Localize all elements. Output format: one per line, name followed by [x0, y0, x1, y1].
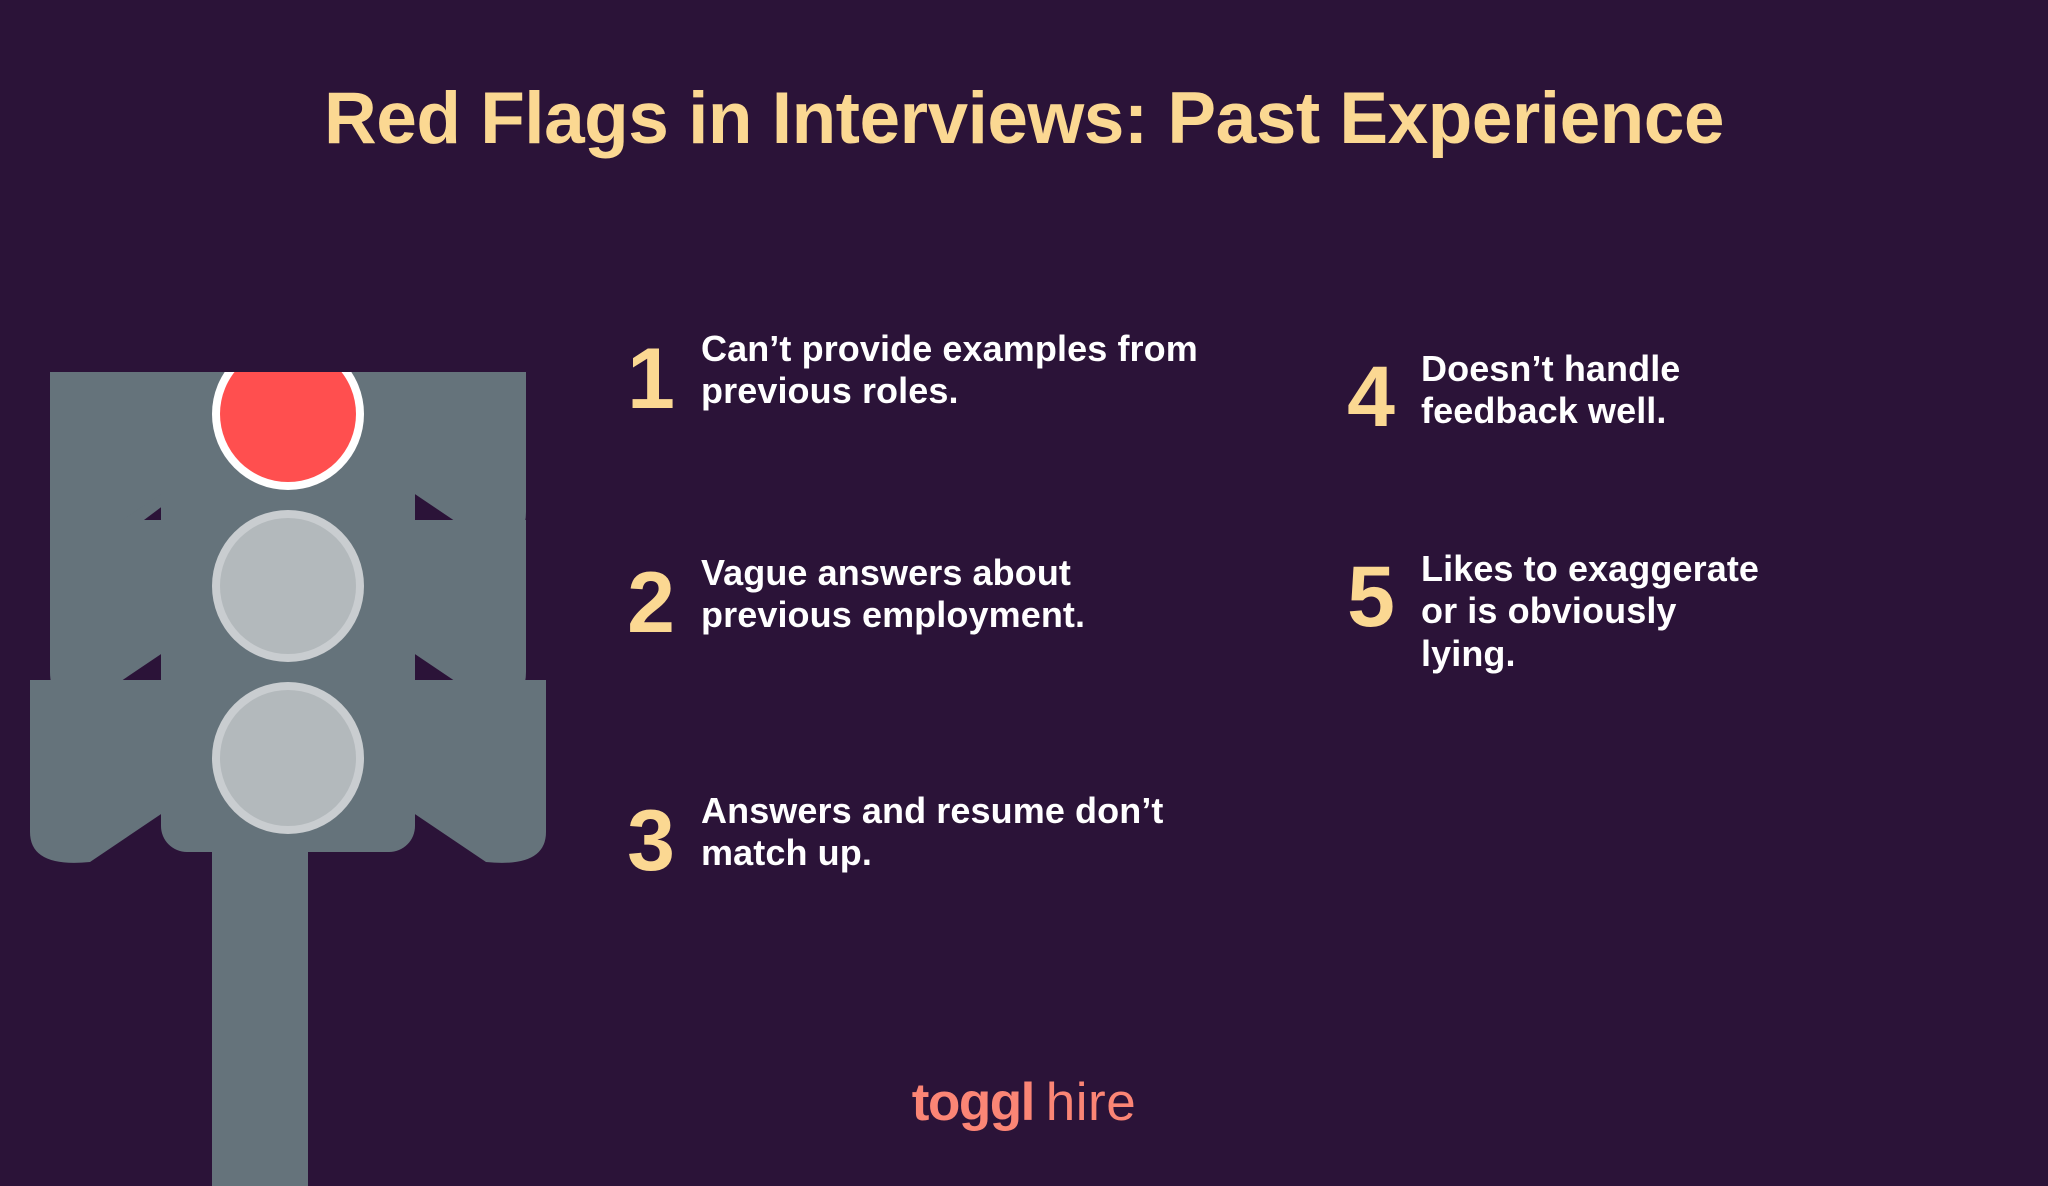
- list-item: 4 Doesn’t handle feedback well.: [1325, 348, 1765, 440]
- infographic-canvas: Red Flags in Interviews: Past Experience: [0, 0, 2048, 1186]
- list-item-text: Answers and resume don’t match up.: [697, 790, 1210, 875]
- list-item-text: Can’t provide examples from previous rol…: [697, 328, 1210, 413]
- logo-wordmark-toggl: toggl: [912, 1073, 1034, 1132]
- list-item: 1 Can’t provide examples from previous r…: [605, 328, 1210, 422]
- hood-tier3-right: [400, 680, 546, 863]
- hood-tier1-right: [400, 372, 526, 543]
- list-item-text: Vague answers about previous employment.: [697, 552, 1210, 637]
- list-item-number: 3: [605, 790, 697, 884]
- list-item: 5 Likes to exaggerate or is obviously ly…: [1325, 548, 1765, 675]
- list-item: 2 Vague answers about previous employmen…: [605, 552, 1210, 646]
- green-light: [220, 690, 356, 826]
- hood-tier3-left: [30, 680, 176, 863]
- list-item-text: Likes to exaggerate or is obviously lyin…: [1417, 548, 1765, 675]
- hood-tier2-right: [400, 520, 526, 703]
- hood-tier1-left: [50, 372, 176, 543]
- toggl-hire-logo: togglhire: [0, 1076, 2048, 1129]
- traffic-light-illustration: [28, 372, 548, 1186]
- list-item-number: 2: [605, 552, 697, 646]
- hood-tier2-left: [50, 520, 176, 703]
- logo-wordmark-hire: hire: [1046, 1073, 1136, 1132]
- page-title: Red Flags in Interviews: Past Experience: [0, 82, 2048, 155]
- amber-light: [220, 518, 356, 654]
- list-item-number: 5: [1325, 548, 1417, 640]
- list-item: 3 Answers and resume don’t match up.: [605, 790, 1210, 884]
- traffic-light-pole: [212, 832, 308, 1186]
- list-item-text: Doesn’t handle feedback well.: [1417, 348, 1765, 433]
- list-item-number: 1: [605, 328, 697, 422]
- list-item-number: 4: [1325, 348, 1417, 440]
